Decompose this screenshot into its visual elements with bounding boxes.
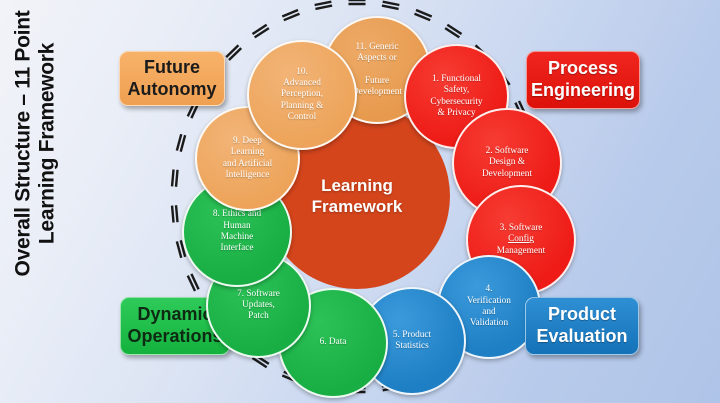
framework-node-label: 9. Deep Learning and Artificial Intellig…	[223, 136, 272, 181]
framework-node-label: 1. Functional Safety, Cybersecurity & Pr…	[430, 74, 482, 119]
framework-node-label: 3. SoftwareConfigManagement	[497, 223, 546, 257]
framework-node-label: 2. Software Design & Development	[482, 146, 532, 180]
callout-label: Process Engineering	[531, 58, 635, 102]
framework-node-label: 4. Verification and Validation	[467, 284, 511, 329]
callout-future_autonomy[interactable]: Future Autonomy	[119, 51, 225, 106]
framework-node-label: 7. Software Updates, Patch	[237, 289, 280, 323]
framework-node-label: 10. Advanced Perception, Planning & Cont…	[281, 67, 324, 124]
callout-label: Future Autonomy	[128, 57, 217, 101]
framework-node-label: 6. Data	[320, 337, 347, 348]
callout-process_engineering[interactable]: Process Engineering	[526, 51, 640, 109]
callout-product_evaluation[interactable]: Product Evaluation	[525, 297, 639, 355]
slide-canvas: Overall Structure – 11 Point Learning Fr…	[0, 0, 720, 403]
framework-node-label: 8. Ethics and Human Machine Interface	[213, 209, 261, 254]
framework-node-10[interactable]: 10. Advanced Perception, Planning & Cont…	[247, 40, 357, 150]
framework-node-label: 5. Product Statistics	[393, 330, 431, 353]
framework-node-label: 11. Generic Aspects or Future Developmen…	[352, 42, 402, 99]
callout-label: Product Evaluation	[536, 304, 627, 348]
